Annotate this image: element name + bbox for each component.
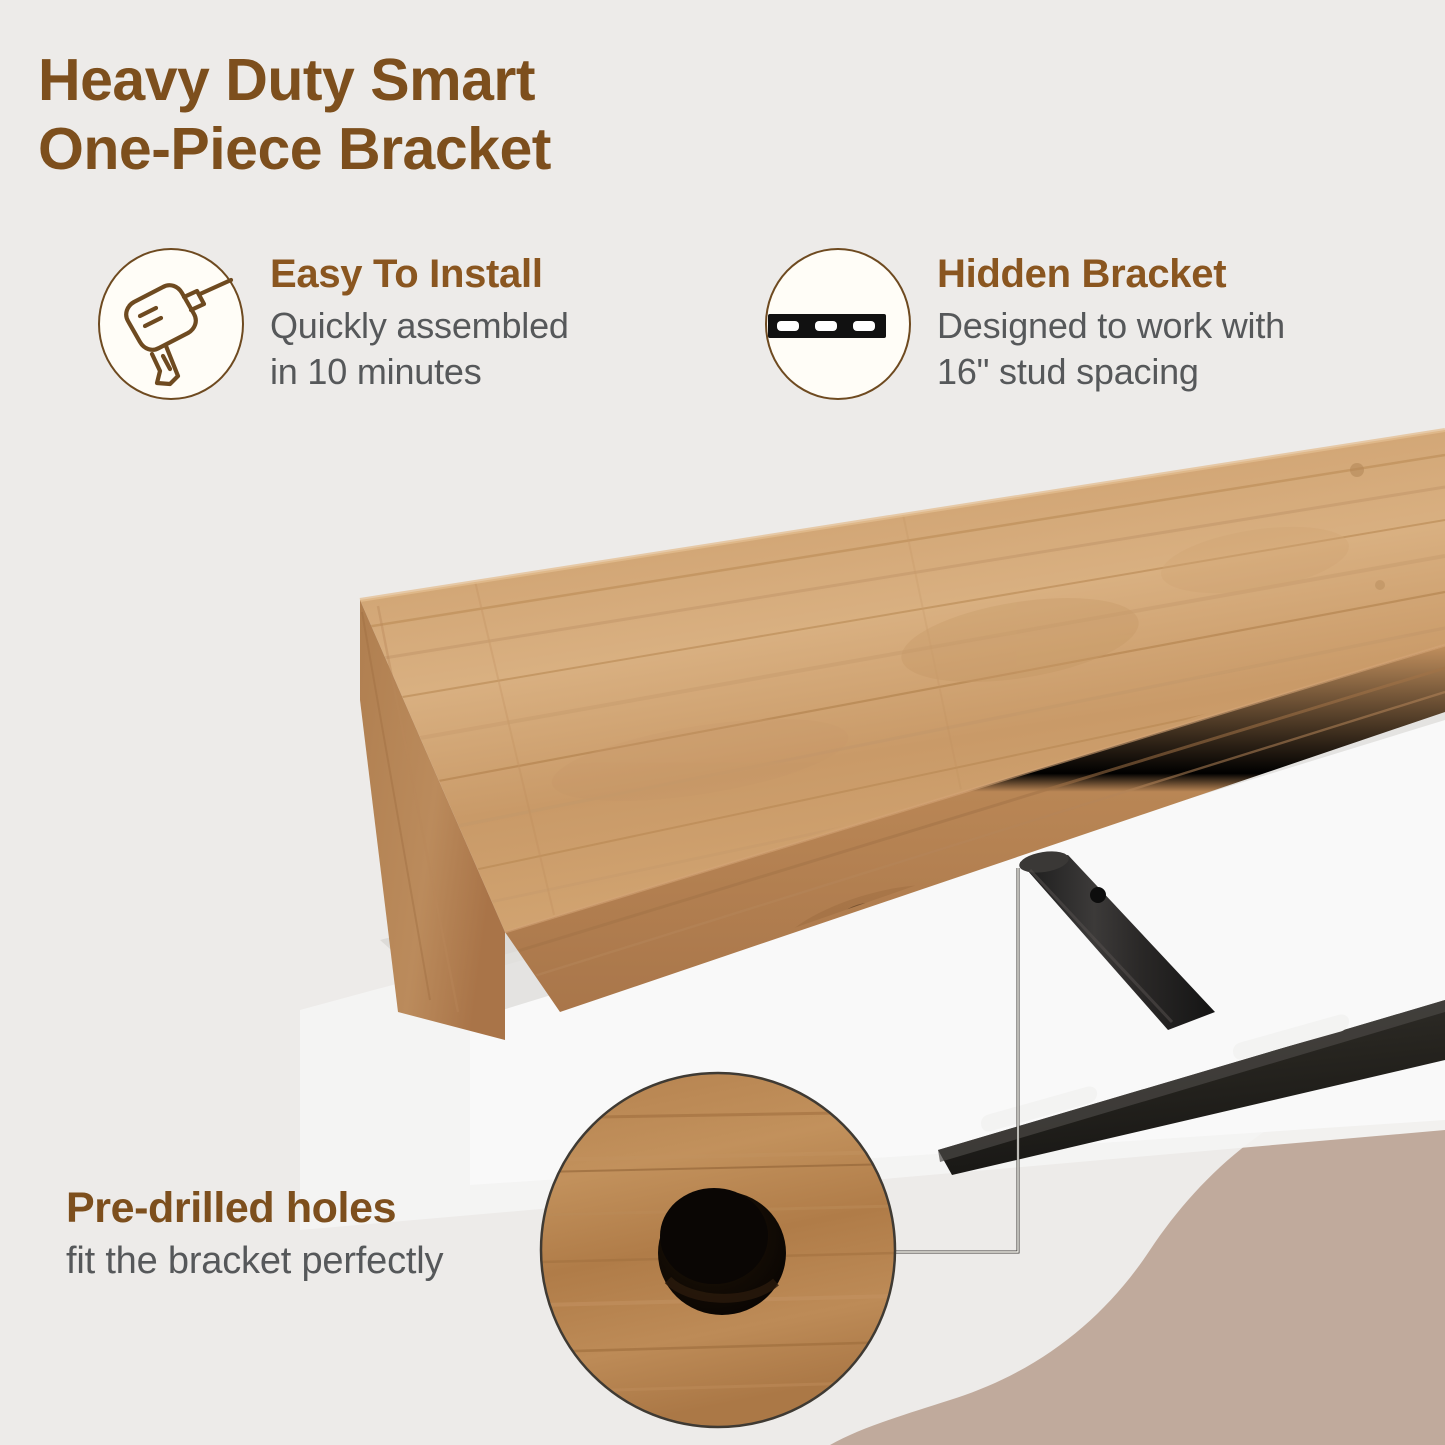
feature-subtitle: Designed to work with 16" stud spacing xyxy=(937,303,1285,395)
callout-title: Pre-drilled holes xyxy=(66,1185,443,1232)
drill-icon xyxy=(98,248,244,400)
poster-canvas: Heavy Duty Smart One-Piece Bracket Easy … xyxy=(0,0,1445,1445)
feature-hidden-bracket: Hidden Bracket Designed to work with 16"… xyxy=(765,248,1285,400)
feature-title: Easy To Install xyxy=(270,252,569,297)
feature-subtitle: Quickly assembled in 10 minutes xyxy=(270,303,569,395)
feature-easy-to-install: Easy To Install Quickly assembled in 10 … xyxy=(98,248,569,400)
page-title: Heavy Duty Smart One-Piece Bracket xyxy=(38,46,898,184)
callout-subtitle: fit the bracket perfectly xyxy=(66,1240,443,1283)
bracket-bar-icon xyxy=(765,248,911,400)
pre-drilled-callout: Pre-drilled holes fit the bracket perfec… xyxy=(66,1185,443,1283)
feature-title: Hidden Bracket xyxy=(937,252,1285,297)
